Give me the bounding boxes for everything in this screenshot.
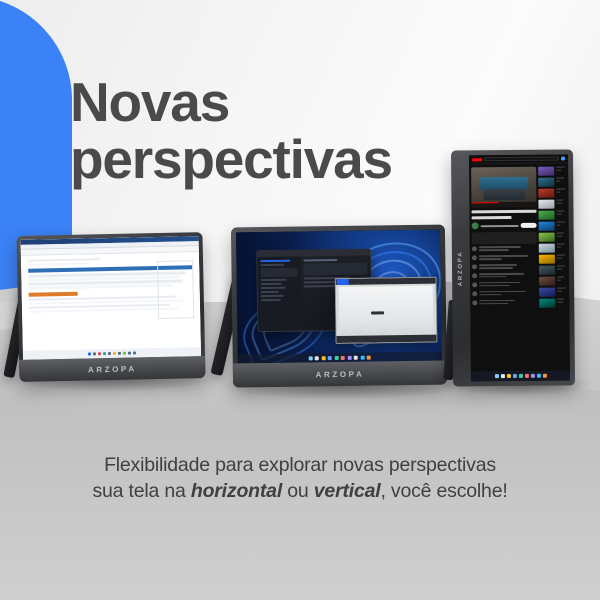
youtube-body — [469, 165, 570, 372]
caption-line-2: sua tela na horizontal ou vertical, você… — [0, 478, 600, 504]
brand-logo-right: ARZOPA — [458, 251, 464, 287]
video-description[interactable] — [472, 232, 537, 245]
search-input[interactable] — [484, 157, 559, 162]
spreadsheet-sidepanel — [157, 260, 194, 319]
photo-image — [339, 286, 434, 335]
caption-pre: sua tela na — [92, 480, 190, 502]
avatar — [472, 291, 477, 296]
chin-left: ARZOPA — [19, 356, 205, 382]
video-player[interactable] — [471, 167, 537, 208]
comment-item — [472, 246, 537, 253]
caption-emphasis-horizontal: horizontal — [191, 480, 282, 502]
photo-app-badge — [337, 279, 349, 285]
caption: Flexibilidade para explorar novas perspe… — [0, 452, 600, 505]
recommendation-item[interactable] — [539, 189, 567, 198]
caption-emphasis-vertical: vertical — [314, 480, 381, 502]
subscribe-button[interactable] — [521, 223, 537, 228]
window-sidebar — [258, 257, 302, 331]
screen-left — [21, 236, 201, 360]
avatar — [472, 246, 477, 251]
channel-row — [472, 222, 537, 230]
photo-titlebar — [336, 278, 436, 285]
comment-item — [472, 300, 537, 307]
taskbar-right[interactable] — [471, 371, 570, 382]
avatar — [472, 273, 477, 278]
video-frame-device-2 — [483, 189, 525, 200]
photo-subject — [371, 311, 384, 314]
screen-center — [236, 230, 442, 364]
recommendation-item[interactable] — [539, 255, 567, 264]
monitor-horizontal-center: ARZOPA — [231, 225, 447, 388]
youtube-main-column — [469, 165, 540, 372]
recommendation-item[interactable] — [539, 178, 567, 187]
comment-item — [472, 291, 537, 298]
recommendation-item[interactable] — [538, 167, 566, 176]
recommendation-item[interactable] — [539, 233, 567, 242]
brand-logo-left: ARZOPA — [88, 364, 137, 374]
brand-logo-center: ARZOPA — [315, 369, 364, 379]
youtube-recommendations — [538, 165, 569, 371]
photo-toolbar — [336, 334, 436, 342]
headline-line-1: Novas — [70, 74, 540, 131]
screen-right — [469, 155, 570, 382]
brand-logo-right-wrap: ARZOPA — [454, 248, 468, 288]
comment-item — [472, 255, 537, 262]
monitor-vertical-right: ARZOPA — [451, 149, 575, 386]
comment-item — [472, 273, 537, 280]
comment-item — [472, 264, 537, 271]
youtube-app — [469, 155, 570, 382]
avatar[interactable] — [561, 157, 565, 161]
recommendation-item[interactable] — [539, 277, 567, 286]
avatar — [472, 255, 477, 260]
recommendation-item[interactable] — [539, 288, 567, 297]
youtube-header — [469, 155, 568, 165]
recommendation-item[interactable] — [539, 244, 567, 253]
recommendation-item[interactable] — [539, 211, 567, 220]
recommendation-item[interactable] — [540, 299, 568, 308]
avatar — [472, 300, 477, 305]
channel-avatar — [472, 222, 479, 229]
window-photo-viewer[interactable] — [335, 277, 438, 344]
recommendation-item[interactable] — [539, 222, 567, 231]
player-controls[interactable] — [471, 202, 536, 208]
avatar — [472, 264, 477, 269]
chin-center: ARZOPA — [233, 361, 447, 388]
caption-line-1: Flexibilidade para explorar novas perspe… — [0, 452, 600, 478]
video-title-line-2 — [472, 216, 512, 219]
caption-mid: ou — [282, 480, 314, 502]
monitor-horizontal-left: ARZOPA — [16, 232, 205, 382]
spreadsheet-app — [21, 236, 201, 360]
video-title-line-1 — [471, 210, 536, 214]
youtube-logo-icon — [472, 158, 482, 161]
comment-item — [472, 282, 537, 289]
windows-desktop — [236, 230, 442, 364]
recommendation-item[interactable] — [539, 266, 567, 275]
ad-canvas: Novas perspectivas — [0, 0, 600, 600]
caption-post: , você escolhe! — [380, 480, 507, 502]
avatar — [472, 282, 477, 287]
recommendation-item[interactable] — [539, 200, 567, 209]
channel-name — [481, 224, 519, 226]
